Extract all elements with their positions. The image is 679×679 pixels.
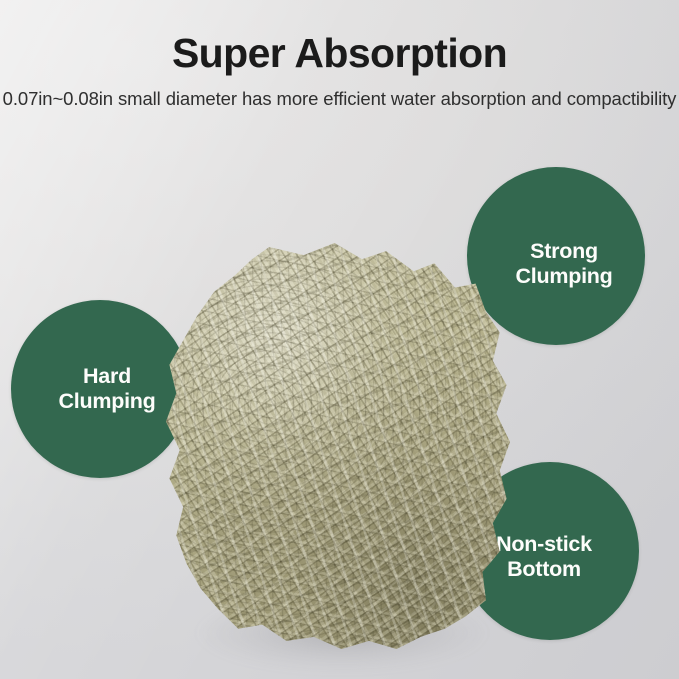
litter-pellet-highlights [166,243,510,649]
badge-strong-clumping-label: Strong Clumping [515,239,612,290]
heading-block: Super Absorption 0.07in~0.08in small dia… [0,0,679,113]
badge-non-stick-bottom-label: Non-stick Bottom [496,532,592,583]
page-title: Super Absorption [0,0,679,75]
badge-hard-clumping: Hard Clumping [11,300,189,478]
litter-clump-photo [166,243,510,649]
badge-hard-clumping-label: Hard Clumping [58,364,155,415]
subtitle: 0.07in~0.08in small diameter has more ef… [0,75,679,112]
product-feature-graphic: Super Absorption 0.07in~0.08in small dia… [0,0,679,679]
